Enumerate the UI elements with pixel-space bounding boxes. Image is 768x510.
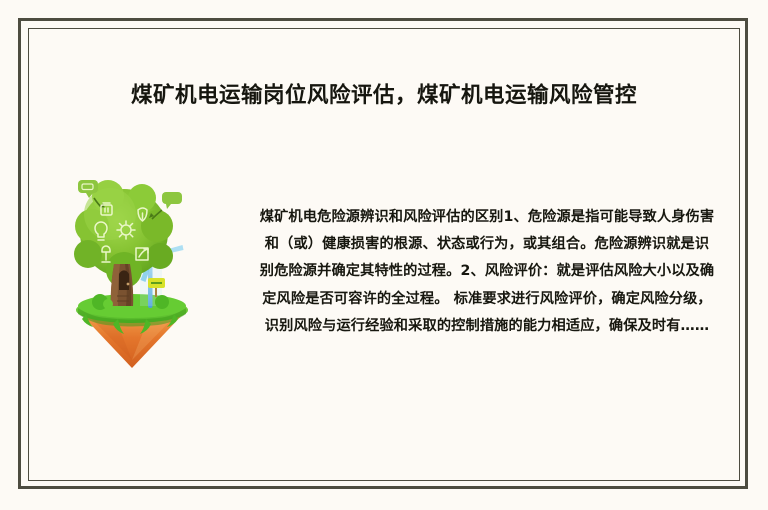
- page-canvas: 煤矿机电运输岗位风险评估，煤矿机电运输风险管控: [0, 0, 768, 510]
- page-title: 煤矿机电运输岗位风险评估，煤矿机电运输风险管控: [28, 78, 740, 109]
- tree-house-trunk: [111, 264, 133, 306]
- article-body-text: 煤矿机电危险源辨识和风险评估的区别1、危险源是指可能导致人身伤害和（或）健康损害…: [258, 204, 716, 340]
- eco-tree-illustration: [62, 178, 202, 368]
